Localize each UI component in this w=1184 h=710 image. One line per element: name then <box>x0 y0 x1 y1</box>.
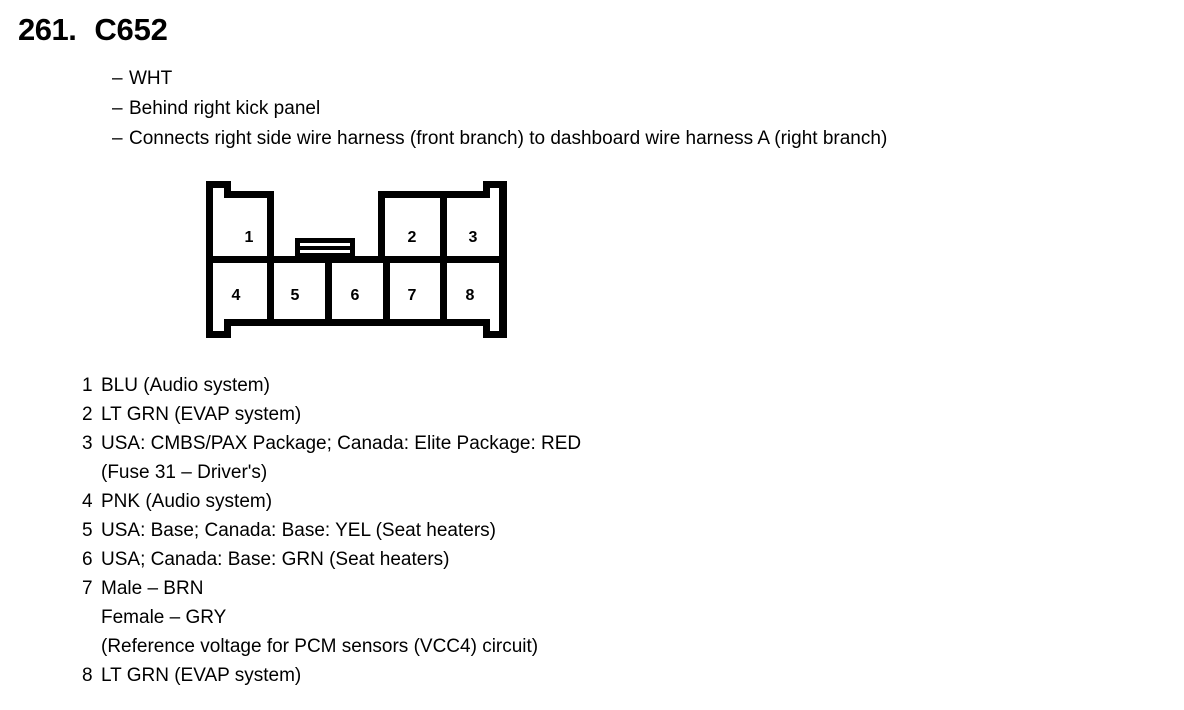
pin-row: 4 PNK (Audio system) <box>82 487 581 516</box>
pin-number: 2 <box>82 400 101 429</box>
description-text: WHT <box>129 64 172 94</box>
pin-row: 7 Male – BRN Female – GRY (Reference vol… <box>82 574 581 661</box>
page-title: 261. C652 <box>18 12 168 48</box>
pin-description-line: Male – BRN <box>101 574 538 603</box>
cavity-label-6: 6 <box>336 288 374 304</box>
pin-number: 7 <box>82 574 101 603</box>
pin-description-line: LT GRN (EVAP system) <box>101 661 301 690</box>
outline-bottom-edge <box>224 319 483 326</box>
pin-description-line: USA: Base; Canada: Base: YEL (Seat heate… <box>101 516 496 545</box>
cavity-label-8: 8 <box>451 288 489 304</box>
pin-description-line: (Fuse 31 – Driver's) <box>101 458 581 487</box>
description-line-connects: – Connects right side wire harness (fron… <box>112 124 887 154</box>
divider-bottom-6-7 <box>383 256 390 326</box>
pin-description-line: BLU (Audio system) <box>101 371 270 400</box>
outline-bottom-left-foot <box>206 331 231 338</box>
divider-bottom-7-8 <box>440 256 447 326</box>
outline-top-edge-right <box>378 191 490 198</box>
outline-bottom-right-foot <box>483 331 507 338</box>
divider-bottom-4-5 <box>267 256 274 326</box>
description-text: Connects right side wire harness (front … <box>129 124 887 154</box>
pin-description-line: PNK (Audio system) <box>101 487 272 516</box>
description-text: Behind right kick panel <box>129 94 320 124</box>
dash-bullet-icon: – <box>112 64 129 94</box>
outline-cavity2-left-wall <box>378 191 385 263</box>
item-number: 261. <box>18 12 76 48</box>
outline-cavity1-right-wall <box>267 191 274 263</box>
cavity-label-3: 3 <box>454 230 492 246</box>
connector-face-diagram: 1 2 3 4 5 6 7 8 <box>196 172 516 352</box>
pin-description: USA: CMBS/PAX Package; Canada: Elite Pac… <box>101 429 581 487</box>
cavity-label-5: 5 <box>276 288 314 304</box>
pin-description-line: Female – GRY <box>101 603 538 632</box>
pin-row: 6 USA; Canada: Base: GRN (Seat heaters) <box>82 545 581 574</box>
cavity-label-4: 4 <box>217 288 255 304</box>
pin-assignment-list: 1 BLU (Audio system) 2 LT GRN (EVAP syst… <box>82 371 581 690</box>
cavity-label-7: 7 <box>393 288 431 304</box>
pin-description: LT GRN (EVAP system) <box>101 661 301 690</box>
pin-number: 3 <box>82 429 101 458</box>
pin-description: BLU (Audio system) <box>101 371 270 400</box>
description-line-location: – Behind right kick panel <box>112 94 887 124</box>
pin-row: 1 BLU (Audio system) <box>82 371 581 400</box>
connector-code: C652 <box>94 12 167 48</box>
divider-top-2-3 <box>440 191 447 263</box>
divider-bottom-5-6 <box>325 256 332 326</box>
pin-row: 3 USA: CMBS/PAX Package; Canada: Elite P… <box>82 429 581 487</box>
cavity-label-1: 1 <box>230 230 268 246</box>
cavity-label-2: 2 <box>393 230 431 246</box>
pin-description-line: USA; Canada: Base: GRN (Seat heaters) <box>101 545 450 574</box>
pin-description-line: (Reference voltage for PCM sensors (VCC4… <box>101 632 538 661</box>
pin-description: USA: Base; Canada: Base: YEL (Seat heate… <box>101 516 496 545</box>
description-list: – WHT – Behind right kick panel – Connec… <box>112 64 887 154</box>
description-line-color: – WHT <box>112 64 887 94</box>
pin-description: USA; Canada: Base: GRN (Seat heaters) <box>101 545 450 574</box>
latch-tab-slot-lower <box>300 250 350 253</box>
dash-bullet-icon: – <box>112 124 129 154</box>
dash-bullet-icon: – <box>112 94 129 124</box>
pin-number: 4 <box>82 487 101 516</box>
pin-number: 6 <box>82 545 101 574</box>
pin-description: Male – BRN Female – GRY (Reference volta… <box>101 574 538 661</box>
pin-number: 5 <box>82 516 101 545</box>
pin-description-line: LT GRN (EVAP system) <box>101 400 301 429</box>
pin-description: PNK (Audio system) <box>101 487 272 516</box>
latch-tab-slot-upper <box>300 243 350 246</box>
pin-row: 2 LT GRN (EVAP system) <box>82 400 581 429</box>
pin-description: LT GRN (EVAP system) <box>101 400 301 429</box>
pin-number: 8 <box>82 661 101 690</box>
outline-row-divider <box>206 256 507 263</box>
pin-row: 5 USA: Base; Canada: Base: YEL (Seat hea… <box>82 516 581 545</box>
pin-row: 8 LT GRN (EVAP system) <box>82 661 581 690</box>
pin-number: 1 <box>82 371 101 400</box>
pin-description-line: USA: CMBS/PAX Package; Canada: Elite Pac… <box>101 429 581 458</box>
